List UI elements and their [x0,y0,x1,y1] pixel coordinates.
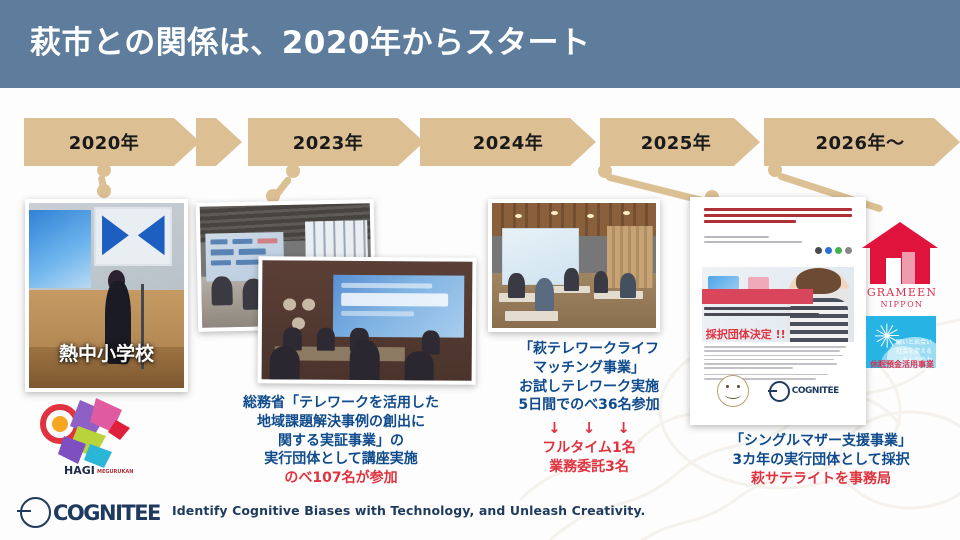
photo-population-decline-panel[interactable] [258,256,477,385]
doc-share-icons [815,247,852,254]
caption-2-highlight: のべ107名が参加 [196,469,486,488]
footer-brand-name: COGNITEE [53,501,160,525]
footer-tagline: Identify Cognitive Biases with Technolog… [172,503,645,518]
doc-stamp-label: 採択団体決定 !! [706,326,786,342]
hagi-logo: HAGI MEGURUKAN [34,392,144,480]
caption-2-line-4: 実行団体として講座実施 [196,450,486,469]
doc-headline [704,208,852,226]
caption-2-line-1: 総務省「テレワークを活用した [196,394,486,413]
timeline-step-2025[interactable]: 2025年 [608,118,760,166]
timeline-label-2023: 2023年 [293,129,364,155]
caption-2026-single-mother: 「シングルマザー支援事業」 3カ年の実行団体として採択 萩サテライトを事務局 [684,432,958,488]
svg-text:HAGI: HAGI [64,464,95,477]
photo-telework-seminar-room[interactable] [488,199,660,332]
caption-3-result-2: 業務委託3名 [484,458,694,477]
timeline: 2020年 2023年 2024年 2025年 2026年〜 [0,118,960,166]
timeline-step-2026[interactable]: 2026年〜 [776,118,960,166]
doc-subheadline [704,307,852,319]
doc-meta [704,236,852,246]
caption-2-line-2: 地域課題解決事例の創出に [196,413,486,432]
caption-3-line-3: お試しテレワーク実施 [484,378,694,397]
doc-red-bar [702,289,813,304]
smiley-logo [717,375,749,407]
cognitee-logo-small-text: COGNITEE [792,386,839,396]
caption-3-line-1: 「萩テレワークライフ [484,340,694,359]
timeline-label-2026: 2026年〜 [815,129,904,155]
timeline-label-2024: 2024年 [473,129,544,155]
slide-root: 萩市との関係は、2020年からスタート 2020年 2023年 2024年 20… [0,0,960,540]
caption-4-highlight: 萩サテライトを事務局 [684,470,958,489]
cognitee-logo-small: COGNITEE [769,381,839,402]
timeline-step-2024[interactable]: 2024年 [436,118,596,166]
timeline-connector-arrow-1 [196,118,242,166]
photo-press-release-document[interactable]: 採択団体決定 !! COGNITEE [690,197,866,425]
caption-3-line-2: マッチング事業」 [484,359,694,378]
dormant-deposit-strip: 休眠預金活用事業 [854,359,950,370]
caption-2-line-3: 関する実証事業」の [196,432,486,451]
svg-text:MEGURUKAN: MEGURUKAN [97,469,133,475]
timeline-step-2020[interactable]: 2020年 [24,118,200,166]
photo-4-content: 採択団体決定 !! COGNITEE [694,201,862,421]
photo-1-overlay-label: 熱中小学校 [29,339,184,366]
caption-3-arrows: ↓↓↓ [484,418,694,438]
photo-nechu-elementary-school[interactable]: 熱中小学校 [25,199,188,392]
timeline-label-2025: 2025年 [641,129,712,155]
photo-1-content: 熱中小学校 [29,203,184,388]
caption-3-result-1: フルタイム1名 [484,439,694,458]
page-title: 萩市との関係は、2020年からスタート [30,17,590,62]
footer-cognitee-logo: COGNITEE [20,497,160,528]
grameen-nippon-logo: GRAMEEN NIPPON 願いと出会い 社会を変える みんなの力 休眠預金活… [854,222,950,368]
caption-4-line-2: 3カ年の実行団体として採択 [684,451,958,470]
slide-header: 萩市との関係は、2020年からスタート [0,0,960,88]
photo-3-content [492,203,656,328]
caption-3-line-4: 5日間でのべ36名参加 [484,396,694,415]
house-icon [862,222,938,284]
caption-2024-telework: 「萩テレワークライフ マッチング事業」 お試しテレワーク実施 5日間でのべ36名… [484,340,694,477]
grameen-sub: NIPPON [854,300,950,309]
timeline-step-2023[interactable]: 2023年 [248,118,424,166]
grameen-name: GRAMEEN [854,286,950,299]
doc-partner-logos: COGNITEE [707,373,848,410]
cognitee-ring-icon [20,497,51,528]
caption-4-line-1: 「シングルマザー支援事業」 [684,432,958,451]
caption-2023-soumusho: 総務省「テレワークを活用した 地域課題解決事例の創出に 関する実証事業」の 実行… [196,394,486,488]
photo-2b-content [262,260,473,380]
timeline-label-2020: 2020年 [69,129,140,155]
